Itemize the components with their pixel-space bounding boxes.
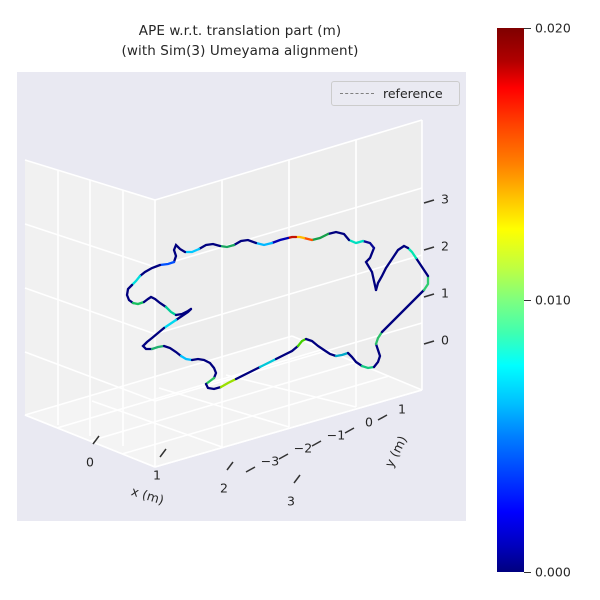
colorbar-tick-min (524, 572, 531, 573)
y-tick-label-3: −2 (294, 441, 312, 456)
x-tick-label-0: 0 (86, 455, 94, 470)
legend-line-icon (340, 93, 374, 95)
x-tick-label-2: 2 (220, 481, 228, 496)
y-tick-label-2: −1 (327, 428, 345, 443)
z-tick-label-2: 1 (441, 286, 449, 301)
z-tick-label-3: 0 (441, 333, 449, 348)
colorbar-label-max: 0.020 (535, 21, 571, 36)
y-tick-label-0: 1 (398, 402, 406, 417)
y-tick-label-4: −3 (261, 454, 279, 469)
colorbar-label-mid: 0.010 (535, 293, 571, 308)
legend-label-reference: reference (383, 86, 443, 101)
figure: APE w.r.t. translation part (m) (with Si… (0, 0, 600, 600)
z-tick-label-1: 2 (441, 239, 449, 254)
colorbar-label-min: 0.000 (535, 565, 571, 580)
colorbar[interactable]: 0.020 0.010 0.000 (497, 28, 524, 572)
pane-group (25, 120, 422, 467)
y-tick-label-1: 0 (365, 415, 373, 430)
colorbar-tick-max (524, 28, 531, 29)
legend[interactable]: reference (331, 81, 460, 106)
axes-3d-panel[interactable]: 0 1 2 3 1 0 −1 −2 −3 3 2 1 0 x (m) y (m)… (17, 72, 466, 521)
colorbar-gradient (497, 28, 524, 572)
chart-title: APE w.r.t. translation part (m) (with Si… (0, 22, 480, 61)
x-tick-label-1: 1 (153, 468, 161, 483)
colorbar-tick-mid (524, 300, 531, 301)
x-tick-label-3: 3 (287, 494, 295, 509)
z-tick-label-0: 3 (441, 192, 449, 207)
